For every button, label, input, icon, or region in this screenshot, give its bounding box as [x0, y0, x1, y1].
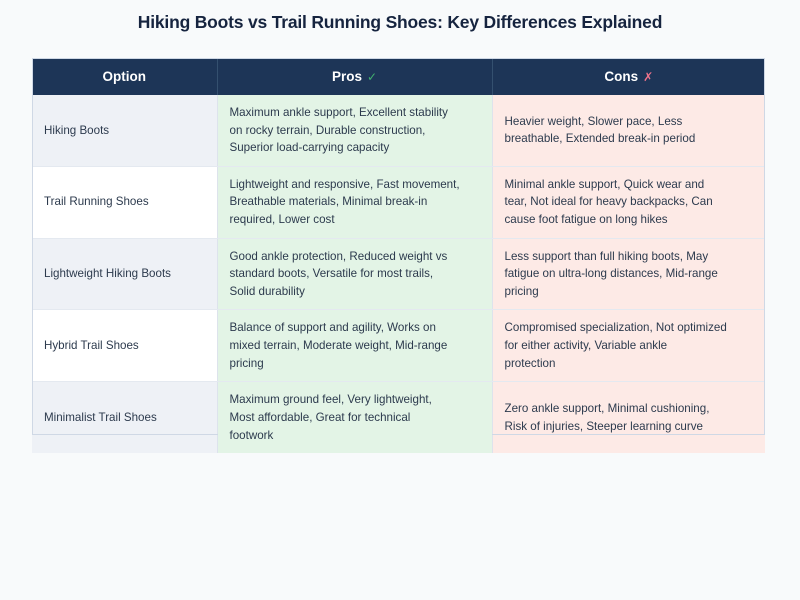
table-row: Lightweight Hiking Boots Good ankle prot… [32, 238, 765, 310]
cons-line: tear, Not ideal for heavy backpacks, Can [505, 193, 755, 211]
column-header-cons[interactable]: Cons✗ [492, 58, 765, 95]
cell-pros: Lightweight and responsive, Fast movemen… [217, 166, 492, 238]
table-row: Hiking Boots Maximum ankle support, Exce… [32, 95, 765, 166]
column-header-cons-label: Cons [604, 69, 638, 84]
cell-cons: Zero ankle support, Minimal cushioning, … [492, 382, 765, 453]
pros-line: Superior load-carrying capacity [230, 139, 481, 157]
option-label: Hiking Boots [44, 124, 109, 137]
cell-pros: Maximum ground feel, Very lightweight, M… [217, 382, 492, 453]
option-label: Minimalist Trail Shoes [44, 411, 157, 424]
cons-line: protection [505, 355, 755, 373]
cell-option: Trail Running Shoes [32, 166, 217, 238]
comparison-table: Option Pros✓ Cons✗ Hiking Boots [32, 58, 765, 453]
cons-line: Zero ankle support, Minimal cushioning, [505, 400, 755, 418]
option-label: Trail Running Shoes [44, 195, 149, 208]
comparison-table-page: Hiking Boots vs Trail Running Shoes: Key… [0, 0, 800, 600]
comparison-table-container: Option Pros✓ Cons✗ Hiking Boots [32, 58, 765, 453]
column-header-pros[interactable]: Pros✓ [217, 58, 492, 95]
pros-line: Most affordable, Great for technical [230, 409, 481, 427]
cons-line: Risk of injuries, Steeper learning curve [505, 418, 755, 436]
option-label: Hybrid Trail Shoes [44, 339, 139, 352]
pros-line: Maximum ground feel, Very lightweight, [230, 391, 481, 409]
cell-option: Hybrid Trail Shoes [32, 310, 217, 382]
table-row: Hybrid Trail Shoes Balance of support an… [32, 310, 765, 382]
cell-option: Hiking Boots [32, 95, 217, 166]
cons-line: Compromised specialization, Not optimize… [505, 319, 755, 337]
pros-line: mixed terrain, Moderate weight, Mid-rang… [230, 337, 481, 355]
column-header-pros-label: Pros [332, 69, 362, 84]
pros-line: Solid durability [230, 283, 481, 301]
column-header-option[interactable]: Option [32, 58, 217, 95]
pros-line: Breathable materials, Minimal break-in [230, 193, 481, 211]
pros-line: Balance of support and agility, Works on [230, 319, 481, 337]
cell-pros: Balance of support and agility, Works on… [217, 310, 492, 382]
table-row: Trail Running Shoes Lightweight and resp… [32, 166, 765, 238]
pros-line: required, Lower cost [230, 211, 481, 229]
cell-cons: Heavier weight, Slower pace, Less breath… [492, 95, 765, 166]
cons-line: cause foot fatigue on long hikes [505, 211, 755, 229]
pros-line: on rocky terrain, Durable construction, [230, 122, 481, 140]
cons-line: Less support than full hiking boots, May [505, 248, 755, 266]
table-body: Hiking Boots Maximum ankle support, Exce… [32, 95, 765, 453]
cell-pros: Maximum ankle support, Excellent stabili… [217, 95, 492, 166]
check-icon: ✓ [367, 70, 377, 84]
pros-line: standard boots, Versatile for most trail… [230, 265, 481, 283]
pros-line: Maximum ankle support, Excellent stabili… [230, 104, 481, 122]
option-label: Lightweight Hiking Boots [44, 267, 171, 280]
cell-cons: Less support than full hiking boots, May… [492, 238, 765, 310]
column-header-option-label: Option [103, 69, 147, 84]
cell-option: Minimalist Trail Shoes [32, 382, 217, 453]
cell-option: Lightweight Hiking Boots [32, 238, 217, 310]
cons-line: fatigue on ultra-long distances, Mid-ran… [505, 265, 755, 283]
cons-line: for either activity, Variable ankle [505, 337, 755, 355]
cons-line: breathable, Extended break-in period [505, 130, 755, 148]
cross-icon: ✗ [643, 70, 653, 84]
cell-cons: Compromised specialization, Not optimize… [492, 310, 765, 382]
page-title: Hiking Boots vs Trail Running Shoes: Key… [0, 12, 800, 33]
pros-line: Good ankle protection, Reduced weight vs [230, 248, 481, 266]
cons-line: Heavier weight, Slower pace, Less [505, 113, 755, 131]
table-row: Minimalist Trail Shoes Maximum ground fe… [32, 382, 765, 453]
cons-line: pricing [505, 283, 755, 301]
cell-cons: Minimal ankle support, Quick wear and te… [492, 166, 765, 238]
pros-line: pricing [230, 355, 481, 373]
table-header: Option Pros✓ Cons✗ [32, 58, 765, 95]
pros-line: Lightweight and responsive, Fast movemen… [230, 176, 481, 194]
table-header-row: Option Pros✓ Cons✗ [32, 58, 765, 95]
cell-pros: Good ankle protection, Reduced weight vs… [217, 238, 492, 310]
pros-line: footwork [230, 427, 481, 445]
cons-line: Minimal ankle support, Quick wear and [505, 176, 755, 194]
